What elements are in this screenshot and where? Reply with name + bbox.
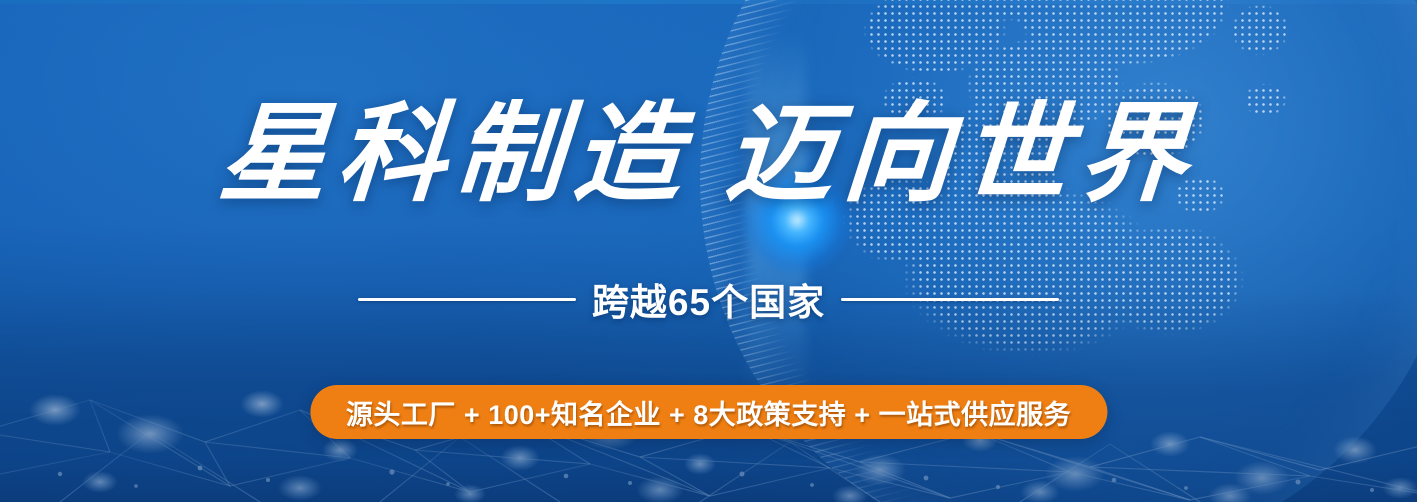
- headline-part-2: 迈向世界: [721, 91, 1202, 217]
- features-pill[interactable]: 源头工厂 + 100+知名企业 + 8大政策支持 + 一站式供应服务: [310, 385, 1107, 439]
- headline-part-1: 星科制造: [215, 91, 696, 217]
- subtitle-rule-right: [841, 298, 1059, 301]
- promo-banner: 星科制造迈向世界 跨越65个国家 源头工厂 + 100+知名企业 + 8大政策支…: [0, 0, 1417, 502]
- subtitle-row: 跨越65个国家: [0, 272, 1417, 326]
- subtitle-rule-left: [358, 298, 576, 301]
- headline: 星科制造迈向世界: [0, 98, 1417, 211]
- subtitle-text: 跨越65个国家: [592, 272, 825, 326]
- features-pill-text: 源头工厂 + 100+知名企业 + 8大政策支持 + 一站式供应服务: [346, 393, 1071, 432]
